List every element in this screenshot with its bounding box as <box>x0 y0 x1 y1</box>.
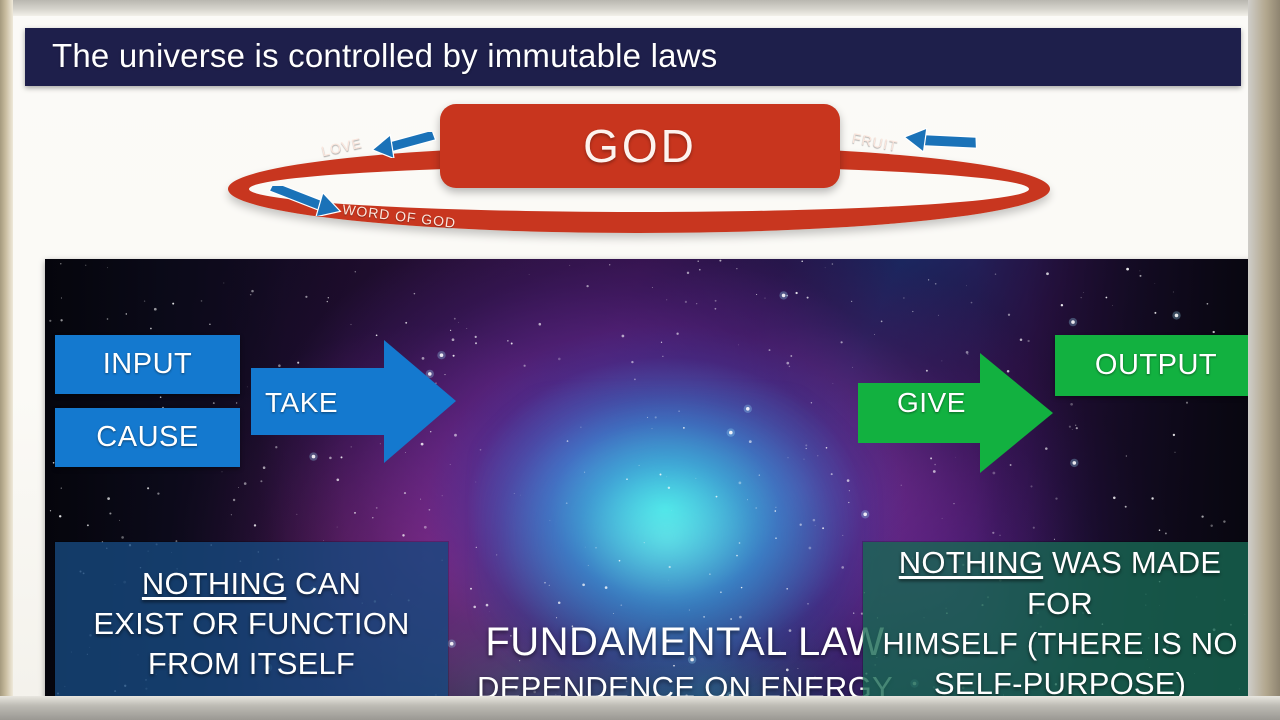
output-label: OUTPUT <box>1095 349 1217 382</box>
output-box: OUTPUT <box>1055 335 1257 396</box>
panel-right-rest: WAS MADE FOR <box>1027 545 1221 620</box>
frame-edge-top <box>0 0 1280 16</box>
page-title: The universe is controlled by immutable … <box>52 37 717 75</box>
panel-left-rest: CAN <box>286 566 361 601</box>
panel-nothing-made-for-himself: NOTHING WAS MADE FOR HIMSELF (THERE IS N… <box>863 542 1257 706</box>
god-box: GOD <box>440 104 840 188</box>
fundamental-law-heading: FUNDAMENTAL LAW <box>445 621 925 663</box>
panel-right-text: NOTHING WAS MADE FOR HIMSELF (THERE IS N… <box>863 543 1257 704</box>
love-arrow-icon <box>368 132 438 158</box>
panel-left-line2: EXIST OR FUNCTION <box>93 606 409 641</box>
fruit-arrow-icon <box>899 128 979 156</box>
panel-left-text: NOTHING CAN EXIST OR FUNCTION FROM ITSEL… <box>83 564 419 685</box>
panel-left-underlined: NOTHING <box>142 566 286 601</box>
word-of-god-arrow-icon <box>268 186 348 216</box>
cause-box: CAUSE <box>55 408 240 467</box>
panel-nothing-can-exist: NOTHING CAN EXIST OR FUNCTION FROM ITSEL… <box>55 542 448 706</box>
god-cycle-diagram: GOD LOVE FRUIT <box>13 90 1248 255</box>
slide-canvas: The universe is controlled by immutable … <box>13 10 1248 700</box>
input-box: INPUT <box>55 335 240 394</box>
cycle-label-fruit: FRUIT <box>851 130 899 155</box>
slide-stage: The universe is controlled by immutable … <box>0 0 1280 720</box>
input-label: INPUT <box>103 348 193 381</box>
panel-right-underlined: NOTHING <box>899 545 1043 580</box>
give-label: GIVE <box>897 387 966 419</box>
god-label: GOD <box>583 119 697 173</box>
input-cause-group: INPUT CAUSE <box>55 335 240 467</box>
frame-edge-left <box>0 0 13 720</box>
cycle-label-love: LOVE <box>320 135 364 160</box>
center-text-block: FUNDAMENTAL LAW DEPENDENCE ON ENERGY AND… <box>445 621 925 706</box>
cause-label: CAUSE <box>96 421 198 454</box>
frame-edge-right <box>1248 0 1280 720</box>
take-label: TAKE <box>265 387 338 419</box>
panel-left-line3: FROM ITSELF <box>148 646 355 681</box>
frame-edge-bottom <box>0 696 1280 720</box>
slide-title-bar: The universe is controlled by immutable … <box>25 28 1241 86</box>
panel-right-line2: HIMSELF (THERE IS NO <box>882 626 1237 661</box>
